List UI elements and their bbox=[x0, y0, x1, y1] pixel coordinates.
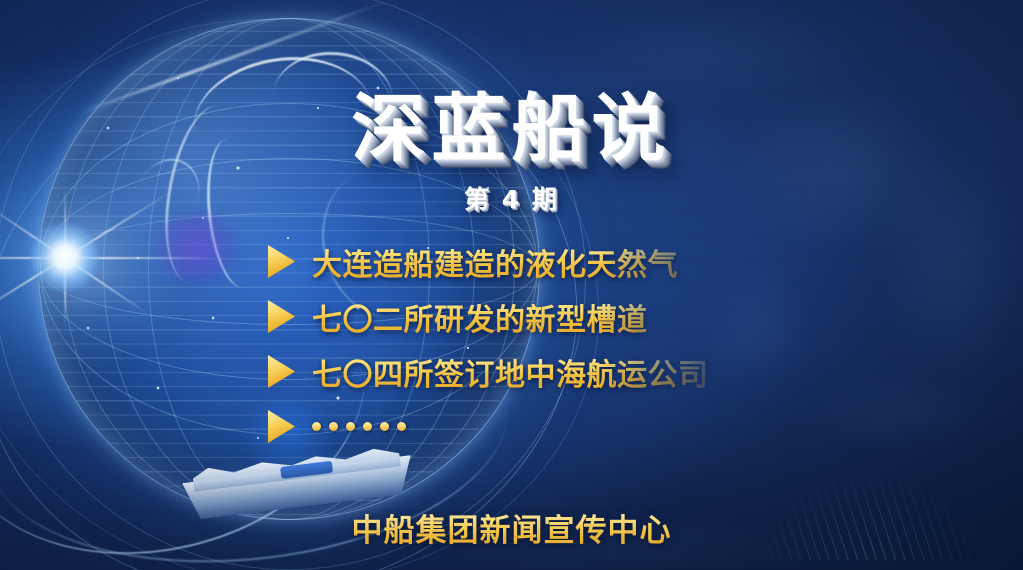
topic-list-item[interactable]: 大连造船建造的液化天然气 bbox=[268, 234, 728, 289]
topic-list-item[interactable]: 七〇二所研发的新型槽道 bbox=[268, 289, 728, 344]
play-triangle-icon bbox=[268, 300, 295, 333]
ellipsis-dot bbox=[312, 422, 321, 431]
ellipsis-dot bbox=[380, 422, 389, 431]
ellipsis-dot bbox=[346, 422, 355, 431]
ellipsis-dot bbox=[329, 422, 338, 431]
footer-organization: 中船集团新闻宣传中心 bbox=[0, 505, 1023, 550]
ellipsis-dots bbox=[312, 422, 406, 431]
ellipsis-dot bbox=[363, 422, 372, 431]
topic-list-item[interactable]: 七〇四所签订地中海航运公司 bbox=[268, 344, 728, 399]
ellipsis-dot bbox=[397, 422, 406, 431]
play-triangle-icon bbox=[268, 410, 295, 443]
topic-list-item-ellipsis[interactable] bbox=[268, 399, 728, 454]
topic-list: 大连造船建造的液化天然气 七〇二所研发的新型槽道 七〇四所签订地中海航运公司 bbox=[268, 234, 728, 454]
video-frame: 深蓝船说 第 4 期 大连造船建造的液化天然气 七〇二所研发的新型槽道 七〇四所… bbox=[0, 0, 1023, 570]
program-subtitle: 第 4 期 bbox=[0, 180, 1023, 216]
topic-text: 大连造船建造的液化天然气 bbox=[312, 240, 678, 284]
play-triangle-icon bbox=[268, 245, 295, 278]
program-title: 深蓝船说 bbox=[0, 92, 1023, 166]
topic-text: 七〇四所签订地中海航运公司 bbox=[312, 350, 709, 394]
topic-text: 七〇二所研发的新型槽道 bbox=[312, 295, 648, 339]
play-triangle-icon bbox=[268, 355, 295, 388]
